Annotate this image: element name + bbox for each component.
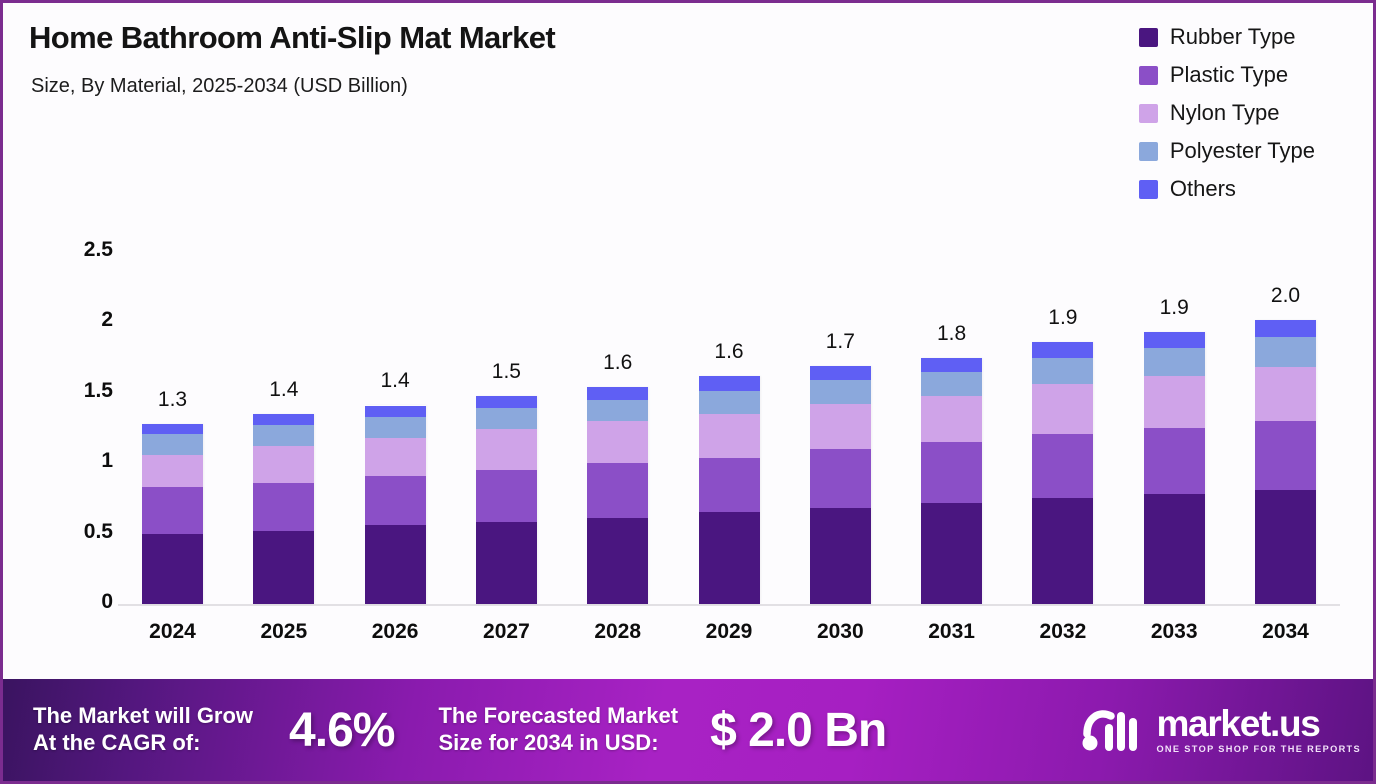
bar-segment[interactable] <box>1032 434 1093 499</box>
x-axis-tick-label: 2030 <box>817 620 864 644</box>
y-axis-tick-label: 1.5 <box>45 379 113 403</box>
bar-segment[interactable] <box>253 483 314 531</box>
bar-total-label: 1.8 <box>937 322 966 346</box>
bar-segment[interactable] <box>253 425 314 446</box>
bar-segment[interactable] <box>1255 320 1316 337</box>
bar-total-label: 1.3 <box>158 388 187 412</box>
bar-segment[interactable] <box>921 442 982 503</box>
bar-group[interactable]: 1.92032 <box>1032 342 1093 604</box>
x-axis-tick-label: 2026 <box>372 620 419 644</box>
bar-segment[interactable] <box>921 396 982 442</box>
bar-segment[interactable] <box>476 429 537 470</box>
stacked-bar[interactable] <box>253 414 314 604</box>
stacked-bar[interactable] <box>365 405 426 604</box>
bar-segment[interactable] <box>253 531 314 604</box>
bar-group[interactable]: 1.92033 <box>1144 332 1205 604</box>
stacked-bar[interactable] <box>699 376 760 604</box>
forecast-caption-line2: Size for 2034 in USD: <box>438 730 678 757</box>
bar-segment[interactable] <box>1255 421 1316 490</box>
bar-total-label: 1.4 <box>269 378 298 402</box>
bar-group[interactable]: 1.62028 <box>587 387 648 604</box>
logo-wordmark: market.us <box>1156 706 1361 741</box>
bar-segment[interactable] <box>142 434 203 455</box>
bar-segment[interactable] <box>476 396 537 409</box>
bar-segment[interactable] <box>921 372 982 396</box>
x-axis-tick-label: 2029 <box>706 620 753 644</box>
bar-segment[interactable] <box>699 391 760 414</box>
bar-group[interactable]: 1.42026 <box>365 405 426 604</box>
x-axis-tick-label: 2025 <box>260 620 307 644</box>
stacked-bar[interactable] <box>1144 332 1205 604</box>
bar-segment[interactable] <box>587 400 648 421</box>
bar-segment[interactable] <box>476 522 537 604</box>
stacked-bar[interactable] <box>476 396 537 604</box>
bar-segment[interactable] <box>699 458 760 513</box>
bar-total-label: 1.4 <box>380 369 409 393</box>
market-us-logo[interactable]: market.us ONE STOP SHOP FOR THE REPORTS <box>1081 704 1361 756</box>
bar-segment[interactable] <box>1255 337 1316 368</box>
stacked-bar[interactable] <box>142 424 203 604</box>
bar-group[interactable]: 1.72030 <box>810 366 871 604</box>
bar-segment[interactable] <box>921 358 982 372</box>
bar-total-label: 1.5 <box>492 360 521 384</box>
bar-group[interactable]: 1.32024 <box>142 424 203 604</box>
bar-segment[interactable] <box>365 438 426 476</box>
forecast-caption: The Forecasted Market Size for 2034 in U… <box>438 703 678 757</box>
logo-tagline: ONE STOP SHOP FOR THE REPORTS <box>1156 744 1361 754</box>
x-axis-tick-label: 2031 <box>928 620 975 644</box>
bar-segment[interactable] <box>142 534 203 604</box>
bar-segment[interactable] <box>587 463 648 518</box>
bar-segment[interactable] <box>1032 342 1093 357</box>
forecast-caption-line1: The Forecasted Market <box>438 703 678 730</box>
bar-segment[interactable] <box>810 449 871 508</box>
bar-segment[interactable] <box>699 414 760 458</box>
bar-segment[interactable] <box>1144 348 1205 376</box>
bar-segment[interactable] <box>587 387 648 400</box>
stacked-bar[interactable] <box>810 366 871 604</box>
bar-segment[interactable] <box>476 470 537 522</box>
bar-segment[interactable] <box>810 404 871 449</box>
forecast-value: $ 2.0 Bn <box>710 703 886 758</box>
bar-segment[interactable] <box>1144 494 1205 604</box>
x-axis-tick-label: 2034 <box>1262 620 1309 644</box>
bar-segment[interactable] <box>365 406 426 417</box>
y-axis-tick-label: 0 <box>45 590 113 614</box>
bar-segment[interactable] <box>365 476 426 525</box>
bar-segment[interactable] <box>810 366 871 380</box>
bar-total-label: 1.6 <box>603 351 632 375</box>
y-axis-tick-label: 2.5 <box>45 238 113 262</box>
bar-segment[interactable] <box>1032 358 1093 385</box>
bar-group[interactable]: 1.42025 <box>253 414 314 604</box>
bar-segment[interactable] <box>1144 376 1205 428</box>
x-axis-tick-label: 2024 <box>149 620 196 644</box>
bar-segment[interactable] <box>253 414 314 425</box>
x-axis-tick-label: 2027 <box>483 620 530 644</box>
cagr-value: 4.6% <box>289 703 394 758</box>
bar-segment[interactable] <box>253 446 314 483</box>
bar-segment[interactable] <box>476 408 537 429</box>
bar-group[interactable]: 1.62029 <box>699 376 760 604</box>
bar-segment[interactable] <box>810 380 871 404</box>
bar-segment[interactable] <box>699 376 760 391</box>
bar-segment[interactable] <box>921 503 982 604</box>
x-axis-tick-label: 2033 <box>1151 620 1198 644</box>
bar-segment[interactable] <box>1255 490 1316 604</box>
bar-segment[interactable] <box>1032 384 1093 433</box>
bar-total-label: 2.0 <box>1271 284 1300 308</box>
bar-segment[interactable] <box>365 525 426 604</box>
bar-group[interactable]: 1.52027 <box>476 396 537 604</box>
bar-total-label: 1.9 <box>1048 306 1077 330</box>
bar-segment[interactable] <box>699 512 760 604</box>
stacked-bar[interactable] <box>587 387 648 604</box>
y-axis-tick-label: 2 <box>45 308 113 332</box>
bar-total-label: 1.6 <box>714 340 743 364</box>
infographic-frame: Home Bathroom Anti-Slip Mat Market Size,… <box>0 0 1376 784</box>
logo-text: market.us ONE STOP SHOP FOR THE REPORTS <box>1156 706 1361 754</box>
x-axis-line <box>118 604 1340 606</box>
stacked-bar[interactable] <box>1032 342 1093 604</box>
cagr-caption: The Market will Grow At the CAGR of: <box>33 703 253 757</box>
bar-group[interactable]: 2.02034 <box>1255 320 1316 604</box>
cagr-caption-line1: The Market will Grow <box>33 703 253 730</box>
chart-plot-area: 00.511.522.5 1.320241.420251.420261.5202… <box>3 3 1376 663</box>
cagr-caption-line2: At the CAGR of: <box>33 730 253 757</box>
bar-segment[interactable] <box>142 487 203 533</box>
y-axis-tick-label: 1 <box>45 449 113 473</box>
logo-waveform-icon <box>1081 704 1147 756</box>
bar-segment[interactable] <box>1144 332 1205 347</box>
stacked-bar[interactable] <box>1255 320 1316 604</box>
bar-segment[interactable] <box>142 424 203 434</box>
bar-total-label: 1.9 <box>1160 296 1189 320</box>
bar-segment[interactable] <box>142 455 203 487</box>
bar-segment[interactable] <box>1032 498 1093 604</box>
bar-group[interactable]: 1.82031 <box>921 358 982 604</box>
x-axis-tick-label: 2032 <box>1040 620 1087 644</box>
bar-segment[interactable] <box>587 421 648 463</box>
summary-banner: The Market will Grow At the CAGR of: 4.6… <box>3 679 1373 781</box>
stacked-bar[interactable] <box>921 358 982 604</box>
bar-segment[interactable] <box>1255 367 1316 421</box>
x-axis-tick-label: 2028 <box>594 620 641 644</box>
bar-segment[interactable] <box>810 508 871 604</box>
bar-segment[interactable] <box>587 518 648 604</box>
bar-total-label: 1.7 <box>826 330 855 354</box>
bar-segment[interactable] <box>1144 428 1205 494</box>
y-axis-tick-label: 0.5 <box>45 520 113 544</box>
bar-segment[interactable] <box>365 417 426 438</box>
